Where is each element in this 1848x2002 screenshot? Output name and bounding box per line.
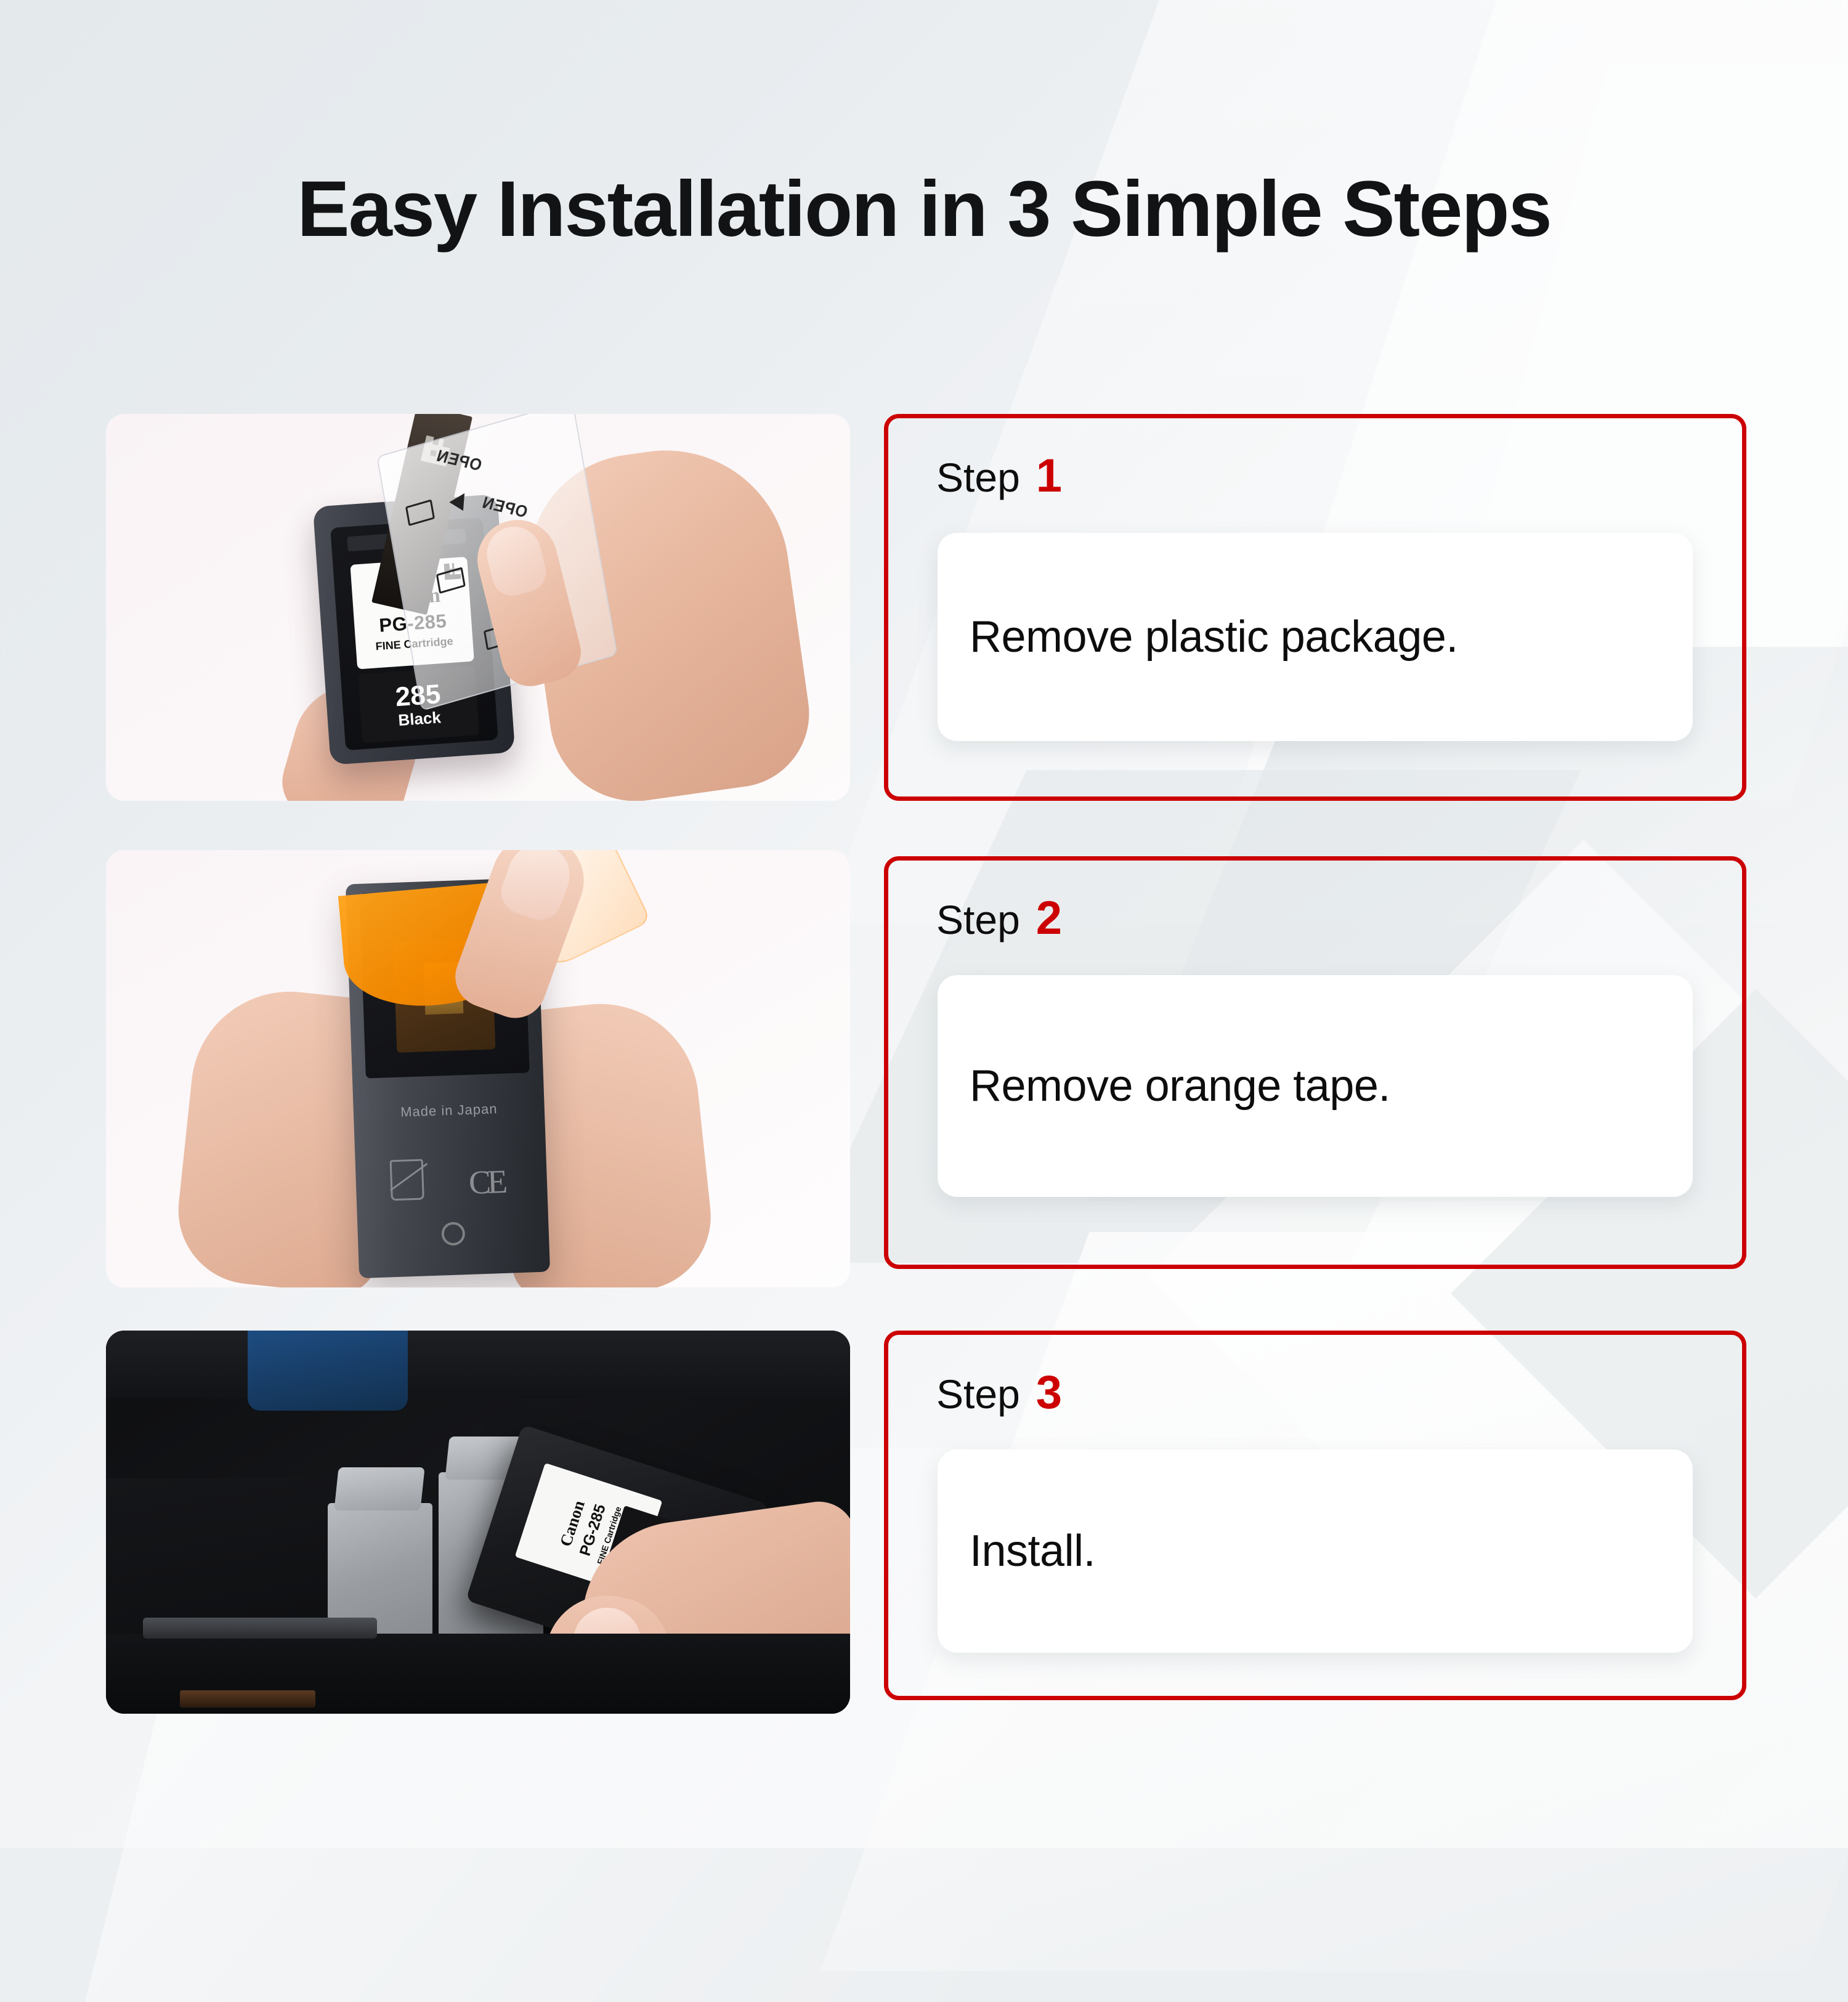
fingernail — [481, 521, 550, 600]
step-message: Remove orange tape. — [970, 1061, 1390, 1112]
step-1-header: Step 1 — [936, 449, 1062, 503]
film-arrow-icon-1 — [449, 489, 471, 511]
cartridge-port — [441, 1222, 465, 1246]
step-2-message-box: Remove orange tape. — [938, 975, 1693, 1197]
step-1-photo: Canon PG-285 FINE Cartridge 285 Black OP… — [106, 414, 850, 801]
cartridge-color: Black — [398, 709, 442, 728]
step-number: 3 — [1036, 1366, 1062, 1419]
step-2-photo: Made in Japan CE — [106, 850, 850, 1287]
step-3-card: Step 3 Install. — [884, 1331, 1746, 1700]
molding-text: Made in Japan — [353, 1100, 545, 1122]
step-3-photo: Canon PG-285 FINE Cartridge 285 Black — [106, 1331, 850, 1714]
ce-mark-icon: CE — [468, 1162, 505, 1202]
weee-bin-icon — [390, 1159, 424, 1201]
step-3-header: Step 3 — [936, 1366, 1062, 1419]
step-row-3: Canon PG-285 FINE Cartridge 285 Black St… — [0, 1331, 1848, 1714]
step-1-message-box: Remove plastic package. — [938, 533, 1693, 741]
step-label: Step — [936, 454, 1020, 501]
fingernail — [495, 850, 578, 926]
step-1-card: Step 1 Remove plastic package. — [884, 414, 1746, 801]
step-2-header: Step 2 — [936, 891, 1062, 945]
step-number: 1 — [1036, 449, 1062, 503]
step-message: Install. — [970, 1526, 1095, 1577]
film-open-text-2: OPEN — [479, 492, 530, 522]
film-open-text-1: OPEN — [434, 446, 484, 476]
step-row-2: Made in Japan CE Step 2 Remove orange ta… — [0, 850, 1848, 1287]
film-handling-icon-2 — [436, 567, 466, 594]
step-label: Step — [936, 896, 1020, 943]
steps-list: Canon PG-285 FINE Cartridge 285 Black OP… — [0, 0, 1848, 1848]
step-number: 2 — [1036, 891, 1062, 945]
film-handling-icon-1 — [405, 499, 435, 526]
printer-blue-part — [248, 1331, 408, 1411]
step-label: Step — [936, 1371, 1020, 1417]
printer-rail — [106, 1634, 850, 1714]
step-row-1: Canon PG-285 FINE Cartridge 285 Black OP… — [0, 414, 1848, 801]
step-message: Remove plastic package. — [970, 612, 1458, 663]
step-2-card: Step 2 Remove orange tape. — [884, 856, 1746, 1269]
film-fine-print-1 — [407, 530, 471, 541]
step-3-message-box: Install. — [938, 1449, 1693, 1653]
printer-lid — [106, 1331, 850, 1398]
